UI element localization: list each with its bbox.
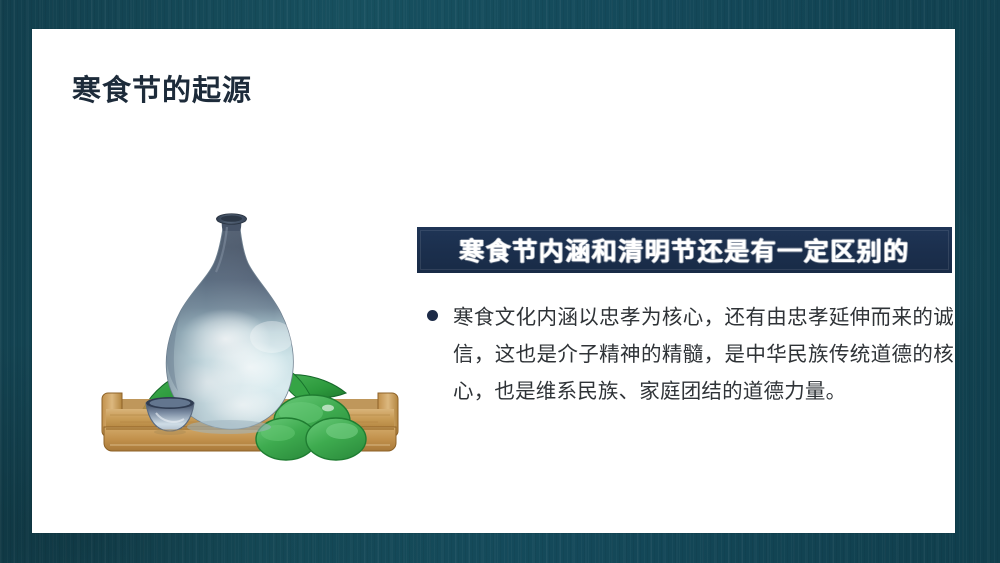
bullet-dot-icon [427,310,438,321]
illustration-sake-vase-with-qingtuan [90,177,410,472]
bullet-paragraph-block: 寒食文化内涵以忠孝为核心，还有由忠孝延伸而来的诚信，这也是介子精神的精髓，是中华… [417,299,954,410]
body-paragraph: 寒食文化内涵以忠孝为核心，还有由忠孝延伸而来的诚信，这也是介子精神的精髓，是中华… [453,299,954,410]
slide-content-card: 寒食节的起源 [32,29,955,533]
page-title: 寒食节的起源 [72,67,252,109]
headline-banner: 寒食节内涵和清明节还是有一定区别的 [417,227,952,273]
presentation-slide: 寒食节的起源 [0,0,1000,563]
content-right-column: 寒食节内涵和清明节还是有一定区别的 寒食文化内涵以忠孝为核心，还有由忠孝延伸而来… [417,227,954,410]
headline-text: 寒食节内涵和清明节还是有一定区别的 [459,232,910,268]
